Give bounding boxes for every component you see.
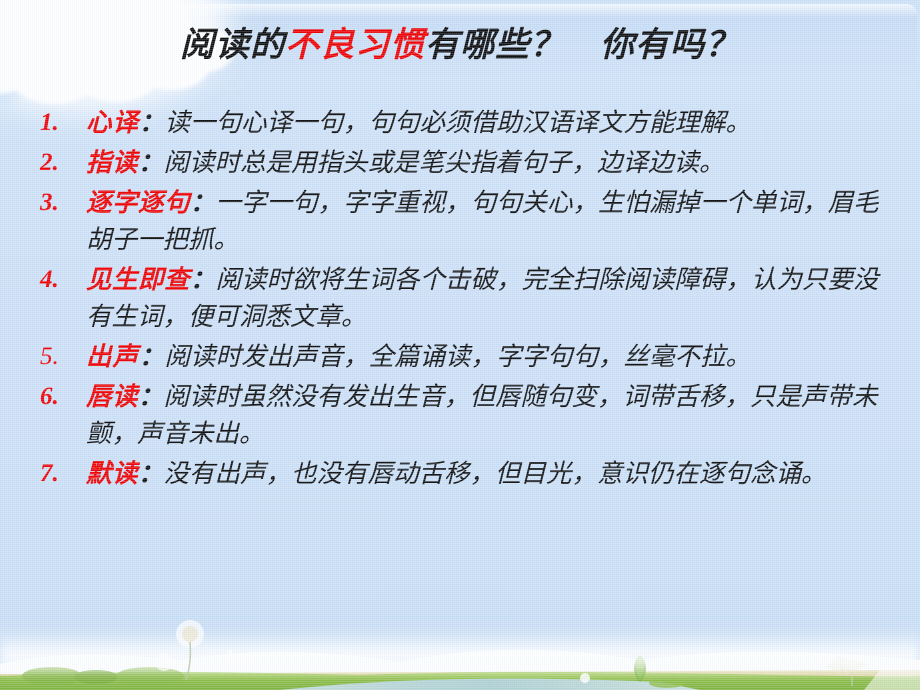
list-item-separator: ： [139,342,165,371]
dandelion-icon [150,614,280,684]
list-item-body: 唇读：阅读时虽然没有发出生音，但唇随句变，词带舌移，只是声带未颤，声音未出。 [86,378,902,452]
list-item-number: 3. [38,184,86,221]
list-item-text: 阅读时虽然没有发出生音，但唇随句变，词带舌移，只是声带未颤，声音未出。 [86,382,878,448]
list-item: 2. 指读：阅读时总是用指头或是笔尖指着句子，边译边读。 [38,144,902,181]
list-item-body: 出声：阅读时发出声音，全篇诵读，字字句句，丝毫不拉。 [86,338,902,375]
list-item: 6. 唇读：阅读时虽然没有发出生音，但唇随句变，词带舌移，只是声带未颤，声音未出… [38,378,902,452]
list-item-keyword: 心译 [86,108,139,137]
list-item-number: 6. [38,378,86,415]
slide-title: 阅读的不良习惯有哪些？ 你有吗？ [0,26,920,66]
list-item-keyword: 唇读 [86,382,138,411]
list-item-number: 4. [38,261,86,298]
list-item-text: 阅读时发出声音，全篇诵读，字字句句，丝毫不拉。 [165,342,752,371]
habits-list: 1. 心译：读一句心译一句，句句必须借助汉语译文方能理解。 2. 指读：阅读时总… [0,104,920,492]
list-item-body: 默读：没有出声，也没有唇动舌移，但目光，意识仍在逐句念诵。 [86,455,902,492]
list-item-number: 5. [38,338,86,375]
list-item-separator: ： [138,382,164,411]
list-item-keyword: 指读 [86,148,138,177]
list-item-keyword: 见生即查 [86,265,190,294]
list-item-keyword: 出声 [86,342,139,371]
list-item-text: 没有出声，也没有唇动舌移，但目光，意识仍在逐句念诵。 [164,459,827,488]
list-item-keyword: 逐字逐句 [86,188,190,217]
list-item-number: 2. [38,144,86,181]
list-item-number: 7. [38,455,86,492]
list-item-body: 见生即查：阅读时欲将生词各个击破，完全扫除阅读障碍，认为只要没有生词，便可洞悉文… [86,261,902,335]
slide-canvas: 阅读的不良习惯有哪些？ 你有吗？ 1. 心译：读一句心译一句，句句必须借助汉语译… [0,0,920,690]
list-item-separator: ： [138,148,164,177]
list-item-keyword: 默读 [86,459,138,488]
list-item-separator: ： [190,265,216,294]
title-suffix: 有哪些？ 你有吗？ [425,27,740,64]
list-item-body: 指读：阅读时总是用指头或是笔尖指着句子，边译边读。 [86,144,902,181]
title-highlight: 不良习惯 [285,27,425,64]
list-item: 7. 默读：没有出声，也没有唇动舌移，但目光，意识仍在逐句念诵。 [38,455,902,492]
list-item-text: 阅读时总是用指头或是笔尖指着句子，边译边读。 [164,148,725,177]
horizon-haze [0,632,920,672]
list-item: 5. 出声：阅读时发出声音，全篇诵读，字字句句，丝毫不拉。 [38,338,902,375]
list-item: 1. 心译：读一句心译一句，句句必须借助汉语译文方能理解。 [38,104,902,141]
content-area: 1. 心译：读一句心译一句，句句必须借助汉语译文方能理解。 2. 指读：阅读时总… [0,104,920,495]
list-item-separator: ： [190,188,216,217]
list-item-text: 读一句心译一句，句句必须借助汉语译文方能理解。 [165,108,752,137]
title-prefix: 阅读的 [180,27,285,64]
list-item-number: 1. [38,104,86,141]
list-item-separator: ： [138,459,164,488]
list-item-separator: ： [139,108,165,137]
list-item-body: 心译：读一句心译一句，句句必须借助汉语译文方能理解。 [86,104,902,141]
list-item: 3. 逐字逐句：一字一句，字字重视，句句关心，生怕漏掉一个单词，眉毛胡子一把抓。 [38,184,902,258]
list-item: 4. 见生即查：阅读时欲将生词各个击破，完全扫除阅读障碍，认为只要没有生词，便可… [38,261,902,335]
list-item-body: 逐字逐句：一字一句，字字重视，句句关心，生怕漏掉一个单词，眉毛胡子一把抓。 [86,184,902,258]
